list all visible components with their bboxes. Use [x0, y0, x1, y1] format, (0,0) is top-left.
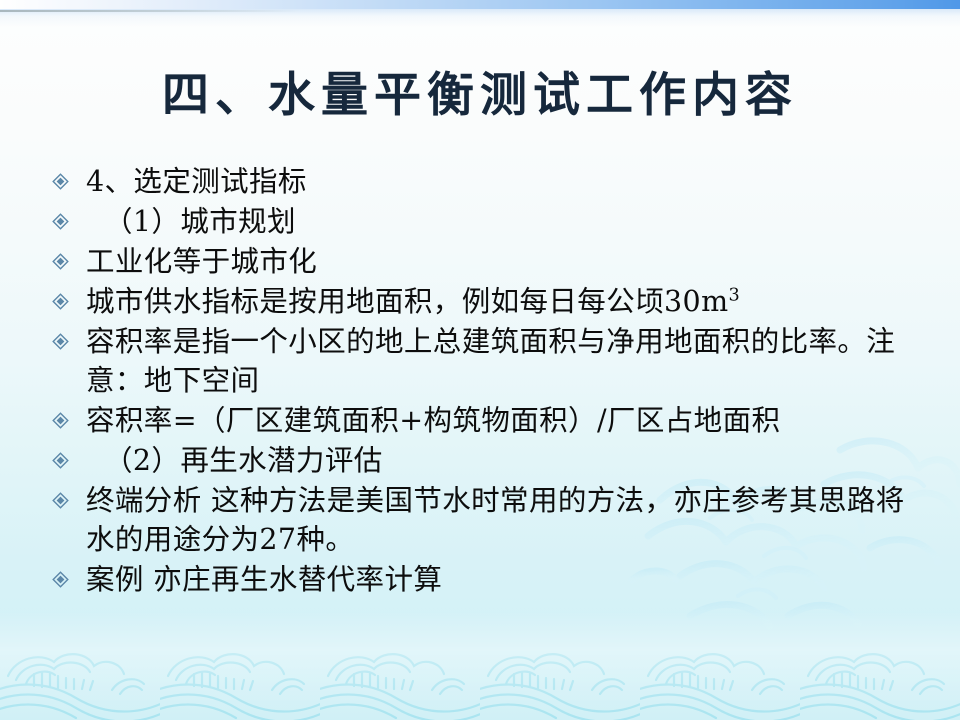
- list-item-label: 终端分析 这种方法是美国节水时常用的方法，亦庄参考其思路将水的用途分为27种。: [86, 481, 932, 559]
- list-item: 容积率=（厂区建筑面积+构筑物面积）/厂区占地面积: [52, 401, 932, 440]
- list-item: 4、选定测试指标: [52, 162, 932, 201]
- bullet-list: 4、选定测试指标 （1）城市规划 工业化等于城市化: [52, 162, 932, 600]
- list-item-label: 4、选定测试指标: [86, 162, 932, 201]
- slide-title: 四、水量平衡测试工作内容: [0, 56, 960, 125]
- list-item: 城市供水指标是按用地面积，例如每日每公顷30m3: [52, 282, 932, 321]
- diamond-bullet-icon: [52, 282, 86, 310]
- diamond-bullet-icon: [52, 401, 86, 429]
- list-item-label: 工业化等于城市化: [86, 242, 932, 281]
- list-item: 终端分析 这种方法是美国节水时常用的方法，亦庄参考其思路将水的用途分为27种。: [52, 481, 932, 559]
- diamond-bullet-icon: [52, 560, 86, 588]
- list-item: 工业化等于城市化: [52, 242, 932, 281]
- diamond-bullet-icon: [52, 162, 86, 190]
- diamond-bullet-icon: [52, 441, 86, 469]
- top-divider-line: [0, 10, 300, 12]
- list-item-label: 城市供水指标是按用地面积，例如每日每公顷30m3: [86, 282, 932, 321]
- diamond-bullet-icon: [52, 202, 86, 230]
- presentation-slide: 四、水量平衡测试工作内容 4、选定测试指标 （1）城市规划: [0, 0, 960, 720]
- list-item-label-text: 城市供水指标是按用地面积，例如每日每公顷30m: [86, 285, 729, 318]
- list-item: 容积率是指一个小区的地上总建筑面积与净用地面积的比率。注意：地下空间: [52, 322, 932, 400]
- diamond-bullet-icon: [52, 242, 86, 270]
- list-item-label: （2）再生水潜力评估: [86, 441, 932, 480]
- superscript-exponent: 3: [729, 286, 741, 306]
- diamond-bullet-icon: [52, 322, 86, 350]
- list-item-label: （1）城市规划: [86, 202, 932, 241]
- list-item-label: 案例 亦庄再生水替代率计算: [86, 560, 932, 599]
- list-item-label: 容积率是指一个小区的地上总建筑面积与净用地面积的比率。注意：地下空间: [86, 322, 932, 400]
- list-item: 案例 亦庄再生水替代率计算: [52, 560, 932, 599]
- wave-pattern-decoration-icon: [0, 612, 960, 720]
- list-item-label: 容积率=（厂区建筑面积+构筑物面积）/厂区占地面积: [86, 401, 932, 440]
- list-item: （2）再生水潜力评估: [52, 441, 932, 480]
- diamond-bullet-icon: [52, 481, 86, 509]
- list-item: （1）城市规划: [52, 202, 932, 241]
- top-accent-band: [0, 0, 960, 9]
